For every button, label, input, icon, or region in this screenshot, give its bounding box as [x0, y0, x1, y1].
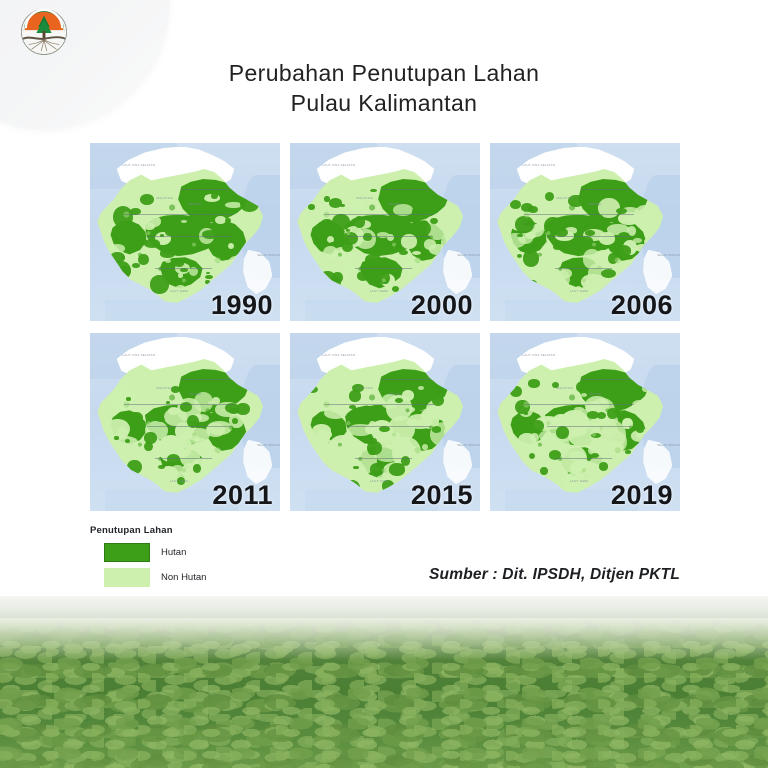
- map-forest-fragment: [417, 390, 426, 398]
- map-forest-fragment: [349, 390, 361, 401]
- map-nonforest-patch: [422, 444, 428, 450]
- map-forest-fragment: [524, 412, 528, 415]
- map-forest-fragment: [432, 426, 442, 432]
- map-panel-1990: LAUT CINA SELATANMALAYSIABRUNEISELAT MAK…: [90, 143, 280, 321]
- map-inset-label: BRUNEI: [589, 202, 602, 206]
- map-year-label-2006: 2006: [611, 292, 673, 319]
- map-forest-fragment: [138, 254, 149, 265]
- map-forest-fragment: [156, 417, 165, 422]
- map-nonforest-patch: [408, 407, 415, 412]
- map-inset-label: SELAT MAKASSAR: [257, 253, 280, 257]
- map-forest-fragment: [353, 466, 358, 469]
- map-nonforest-patch: [225, 202, 241, 209]
- map-year-label-2000: 2000: [411, 292, 473, 319]
- map-inset-label: LAUT CINA SELATAN: [322, 353, 355, 357]
- legend-label-hutan: Hutan: [161, 547, 186, 558]
- map-nonforest-patch: [190, 256, 199, 260]
- map-boundary-line: [524, 214, 634, 215]
- title-line-2: Pulau Kalimantan: [0, 88, 768, 118]
- klhk-ministry-logo: [20, 8, 68, 56]
- legend-item-non-hutan: Non Hutan: [90, 568, 206, 587]
- map-forest-fragment: [531, 420, 544, 432]
- map-forest-fragment: [630, 391, 637, 397]
- map-forest-fragment: [430, 218, 438, 224]
- map-inset-label: LAUT JAWA: [170, 289, 188, 293]
- map-forest-fragment: [597, 412, 606, 419]
- map-nonforest-patch: [199, 441, 209, 447]
- map-forest-fragment: [308, 204, 315, 210]
- map-nonforest-patch: [533, 388, 557, 403]
- map-boundary-line: [581, 379, 630, 380]
- map-nonforest-patch: [518, 433, 536, 448]
- map-forest-fragment: [528, 206, 538, 214]
- map-inset-label: MALAYSIA: [557, 386, 573, 390]
- map-forest-fragment: [616, 245, 631, 256]
- map-nonforest-patch: [633, 238, 642, 243]
- map-inset-label: LAUT JAWA: [570, 289, 588, 293]
- legend-label-non-hutan: Non Hutan: [161, 572, 206, 583]
- map-nonforest-patch: [315, 430, 329, 445]
- map-panel-2011: LAUT CINA SELATANMALAYSIABRUNEISELAT MAK…: [90, 333, 280, 511]
- map-forest-fragment: [211, 193, 219, 199]
- map-forest-fragment: [636, 427, 644, 434]
- map-boundary-line: [555, 268, 612, 269]
- map-inset-label: LAUT JAWA: [370, 479, 388, 483]
- map-forest-fragment: [399, 250, 408, 255]
- map-inset-label: MALAYSIA: [157, 386, 173, 390]
- map-nonforest-patch: [323, 246, 338, 261]
- map-boundary-line: [324, 404, 434, 405]
- map-forest-fragment: [330, 242, 335, 245]
- map-boundary-line: [181, 379, 230, 380]
- map-inset-label: MALAYSIA: [157, 196, 173, 200]
- map-boundary-line: [124, 404, 234, 405]
- map-nonforest-patch: [366, 396, 373, 404]
- map-nonforest-patch: [402, 260, 419, 273]
- map-inset-label: BRUNEI: [589, 392, 602, 396]
- map-nonforest-patch: [181, 220, 186, 223]
- map-boundary-line: [381, 189, 430, 190]
- map-forest-fragment: [414, 221, 431, 236]
- map-forest-fragment: [342, 242, 353, 253]
- map-forest-fragment: [385, 215, 400, 230]
- map-forest-fragment: [167, 454, 180, 465]
- map-forest-fragment: [132, 263, 140, 268]
- map-forest-fragment: [370, 463, 383, 476]
- map-nonforest-patch: [554, 268, 573, 279]
- map-forest-fragment: [332, 214, 349, 230]
- map-nonforest-patch: [179, 434, 200, 444]
- map-forest-fragment: [178, 228, 183, 233]
- map-forest-fragment: [144, 239, 160, 248]
- map-forest-fragment: [158, 465, 165, 469]
- map-forest-fragment: [165, 227, 174, 236]
- map-forest-fragment: [114, 436, 119, 439]
- legend-item-hutan: Hutan: [90, 543, 206, 562]
- map-year-label-1990: 1990: [211, 292, 273, 319]
- map-boundary-line: [355, 458, 412, 459]
- map-forest-fragment: [129, 412, 142, 423]
- map-boundary-line: [347, 236, 431, 237]
- map-forest-fragment: [205, 275, 213, 279]
- map-forest-fragment: [213, 384, 219, 389]
- map-forest-fragment: [150, 275, 169, 294]
- map-year-label-2019: 2019: [611, 482, 673, 509]
- map-boundary-line: [147, 236, 231, 237]
- map-inset-label: SELAT MAKASSAR: [457, 253, 480, 257]
- map-forest-fragment: [229, 408, 239, 414]
- map-boundary-line: [324, 214, 434, 215]
- map-boundary-line: [124, 214, 234, 215]
- map-inset-label: LAUT CINA SELATAN: [322, 163, 355, 167]
- map-forest-fragment: [324, 196, 329, 201]
- map-inset-label: MALAYSIA: [357, 386, 373, 390]
- map-inset-label: LAUT JAWA: [370, 289, 388, 293]
- map-year-label-2011: 2011: [212, 482, 273, 509]
- map-inset-label: LAUT CINA SELATAN: [522, 163, 555, 167]
- map-nonforest-patch: [622, 418, 632, 429]
- map-inset-label: LAUT CINA SELATAN: [122, 163, 155, 167]
- map-forest-fragment: [591, 433, 601, 438]
- map-boundary-line: [181, 189, 230, 190]
- photo-canopy: [0, 618, 768, 768]
- map-nonforest-patch: [171, 465, 183, 475]
- map-inset-label: BRUNEI: [189, 392, 202, 396]
- map-nonforest-patch: [545, 200, 562, 215]
- aerial-forest-photo: [0, 596, 768, 768]
- map-inset-label: SELAT MAKASSAR: [457, 443, 480, 447]
- map-forest-fragment: [357, 271, 369, 281]
- map-forest-fragment: [193, 464, 201, 473]
- map-forest-fragment: [529, 453, 535, 459]
- map-forest-fragment: [556, 426, 569, 439]
- map-boundary-line: [524, 404, 634, 405]
- map-boundary-line: [155, 458, 212, 459]
- map-boundary-line: [147, 426, 231, 427]
- map-forest-fragment: [382, 278, 389, 284]
- map-panel-grid: LAUT CINA SELATANMALAYSIABRUNEISELAT MAK…: [90, 143, 680, 515]
- source-credit: Sumber : Dit. IPSDH, Ditjen PKTL: [429, 566, 680, 584]
- page-title: Perubahan Penutupan Lahan Pulau Kalimant…: [0, 58, 768, 118]
- map-inset-label: BRUNEI: [389, 392, 402, 396]
- map-forest-fragment: [577, 236, 593, 246]
- map-nonforest-patch: [581, 393, 587, 397]
- map-inset-label: BRUNEI: [389, 202, 402, 206]
- photo-horizon-haze: [0, 618, 768, 660]
- legend-swatch-non-hutan: [104, 568, 150, 587]
- map-inset-label: MALAYSIA: [557, 196, 573, 200]
- map-forest-fragment: [368, 274, 381, 285]
- map-nonforest-patch: [632, 400, 647, 411]
- map-forest-fragment: [194, 381, 200, 386]
- map-forest-fragment: [232, 418, 238, 424]
- map-nonforest-patch: [110, 385, 137, 411]
- map-inset-label: SELAT MAKASSAR: [657, 443, 680, 447]
- map-forest-fragment: [389, 463, 404, 475]
- map-forest-fragment: [126, 397, 130, 401]
- map-boundary-line: [381, 379, 430, 380]
- map-forest-fragment: [144, 442, 153, 451]
- map-forest-fragment: [528, 379, 540, 387]
- map-forest-fragment: [140, 194, 154, 205]
- map-boundary-line: [547, 426, 631, 427]
- legend-title: Penutupan Lahan: [90, 525, 206, 536]
- map-forest-fragment: [608, 253, 618, 264]
- map-panel-2000: LAUT CINA SELATANMALAYSIABRUNEISELAT MAK…: [290, 143, 480, 321]
- map-nonforest-patch: [147, 216, 161, 227]
- map-nonforest-patch: [339, 251, 356, 264]
- map-boundary-line: [355, 268, 412, 269]
- map-nonforest-patch: [412, 251, 421, 255]
- map-boundary-line: [581, 189, 630, 190]
- map-inset-label: SELAT MAKASSAR: [657, 253, 680, 257]
- map-inset-label: LAUT CINA SELATAN: [122, 353, 155, 357]
- map-nonforest-patch: [424, 239, 435, 250]
- map-nonforest-patch: [569, 451, 585, 462]
- map-boundary-line: [347, 426, 431, 427]
- map-nonforest-patch: [317, 392, 327, 398]
- map-forest-fragment: [340, 204, 345, 207]
- map-forest-fragment: [370, 189, 376, 192]
- map-inset-label: MALAYSIA: [357, 196, 373, 200]
- map-inset-label: SELAT MAKASSAR: [257, 443, 280, 447]
- map-forest-fragment: [599, 462, 609, 470]
- map-forest-fragment: [363, 233, 372, 240]
- map-inset-label: LAUT JAWA: [570, 479, 588, 483]
- map-forest-fragment: [523, 250, 539, 267]
- map-panel-2019: LAUT CINA SELATANMALAYSIABRUNEISELAT MAK…: [490, 333, 680, 511]
- title-line-1: Perubahan Penutupan Lahan: [0, 58, 768, 88]
- map-nonforest-patch: [207, 421, 232, 436]
- map-forest-fragment: [553, 244, 561, 250]
- map-inset-label: LAUT JAWA: [170, 479, 188, 483]
- legend-swatch-hutan: [104, 543, 150, 562]
- map-forest-fragment: [368, 447, 375, 455]
- map-inset-label: BRUNEI: [189, 202, 202, 206]
- map-nonforest-patch: [439, 219, 448, 223]
- map-nonforest-patch: [535, 223, 543, 232]
- map-nonforest-patch: [540, 459, 547, 465]
- map-forest-fragment: [601, 269, 616, 278]
- map-forest-fragment: [517, 254, 523, 258]
- map-forest-fragment: [212, 227, 220, 234]
- map-boundary-line: [555, 458, 612, 459]
- map-forest-fragment: [540, 467, 547, 475]
- map-forest-fragment: [524, 223, 530, 226]
- map-panel-2006: LAUT CINA SELATANMALAYSIABRUNEISELAT MAK…: [490, 143, 680, 321]
- map-forest-fragment: [625, 450, 631, 453]
- legend: Penutupan Lahan Hutan Non Hutan: [90, 525, 206, 593]
- map-forest-fragment: [332, 272, 342, 283]
- map-nonforest-patch: [178, 273, 183, 278]
- map-forest-fragment: [160, 249, 174, 257]
- map-boundary-line: [155, 268, 212, 269]
- map-boundary-line: [547, 236, 631, 237]
- map-forest-fragment: [174, 260, 185, 267]
- map-year-label-2015: 2015: [411, 482, 473, 509]
- map-inset-label: LAUT CINA SELATAN: [522, 353, 555, 357]
- map-panel-2015: LAUT CINA SELATANMALAYSIABRUNEISELAT MAK…: [290, 333, 480, 511]
- map-forest-fragment: [392, 286, 399, 292]
